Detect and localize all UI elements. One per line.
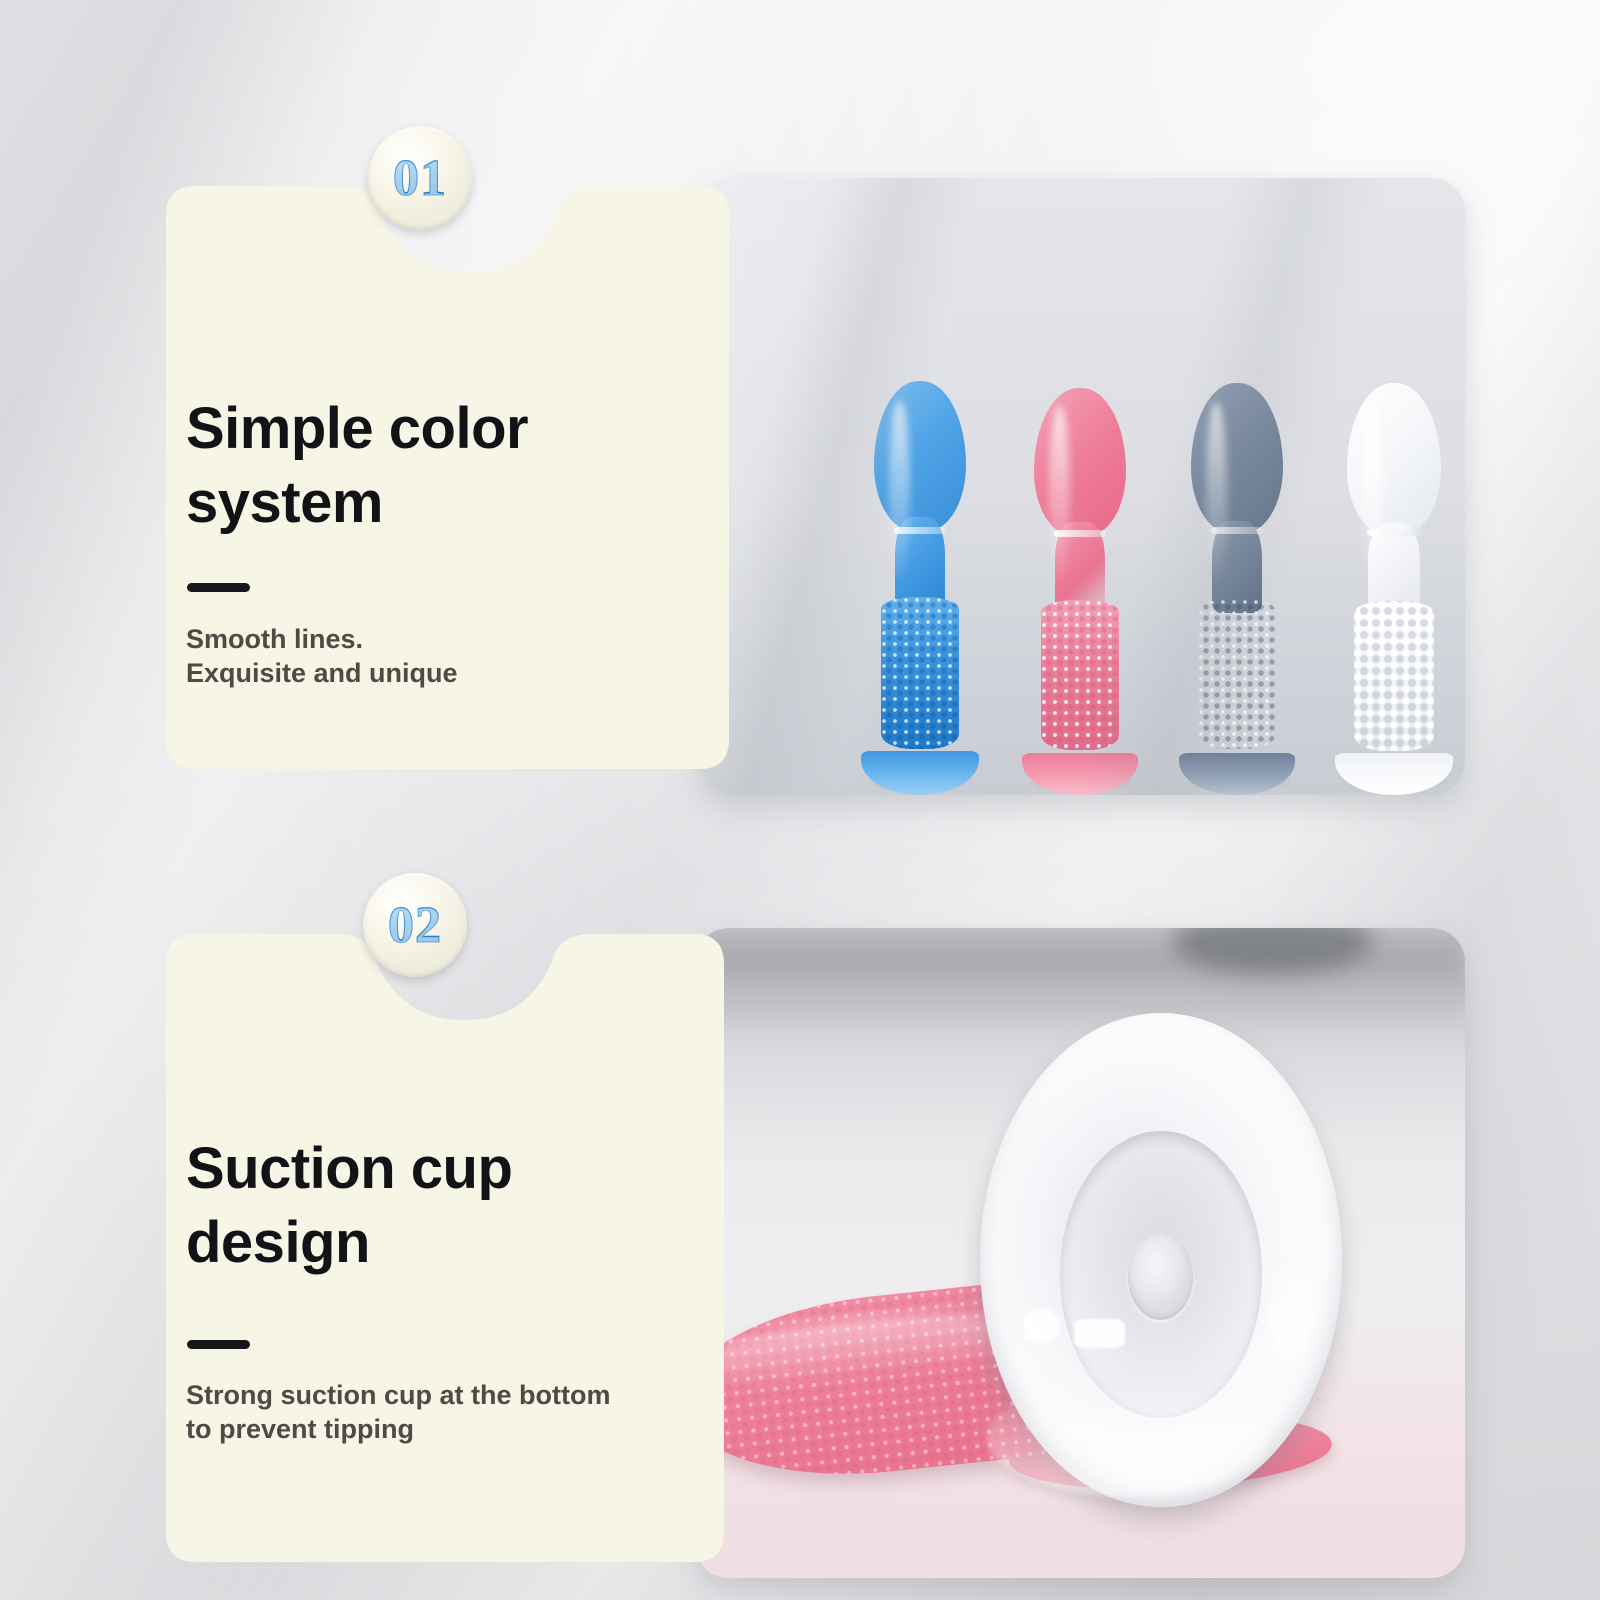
suction-cup-bowl (1060, 1131, 1263, 1418)
feature-02-subtext-line-2: to prevent tipping (186, 1412, 610, 1446)
suction-cup (980, 1013, 1342, 1507)
suction-cup-highlight-3 (1269, 1250, 1312, 1359)
feature-02-subtext-line-1: Strong suction cup at the bottom (186, 1378, 610, 1412)
suction-cup-center-boss (1128, 1234, 1193, 1320)
feature-02-badge-number: 02 (388, 896, 442, 955)
suction-cup-highlight-1 (1023, 1309, 1059, 1344)
feature-block-02: 02 Suction cup design Strong suction cup… (0, 0, 1600, 1600)
feature-02-photo (695, 928, 1465, 1578)
feature-02-subtext: Strong suction cup at the bottom to prev… (186, 1378, 610, 1446)
infographic-page: 01 Simple color system Smooth lines. Exq… (0, 0, 1600, 1600)
suction-cup-rim-highlight (987, 1378, 1269, 1497)
feature-02-headline-line-1: Suction cup (186, 1132, 512, 1206)
suction-cup-scene (695, 928, 1465, 1578)
suction-cup-highlight-2 (1074, 1319, 1125, 1349)
feature-02-divider (187, 1340, 250, 1349)
feature-02-headline: Suction cup design (186, 1132, 512, 1280)
feature-02-headline-line-2: design (186, 1206, 512, 1280)
feature-02-badge: 02 (363, 873, 467, 977)
